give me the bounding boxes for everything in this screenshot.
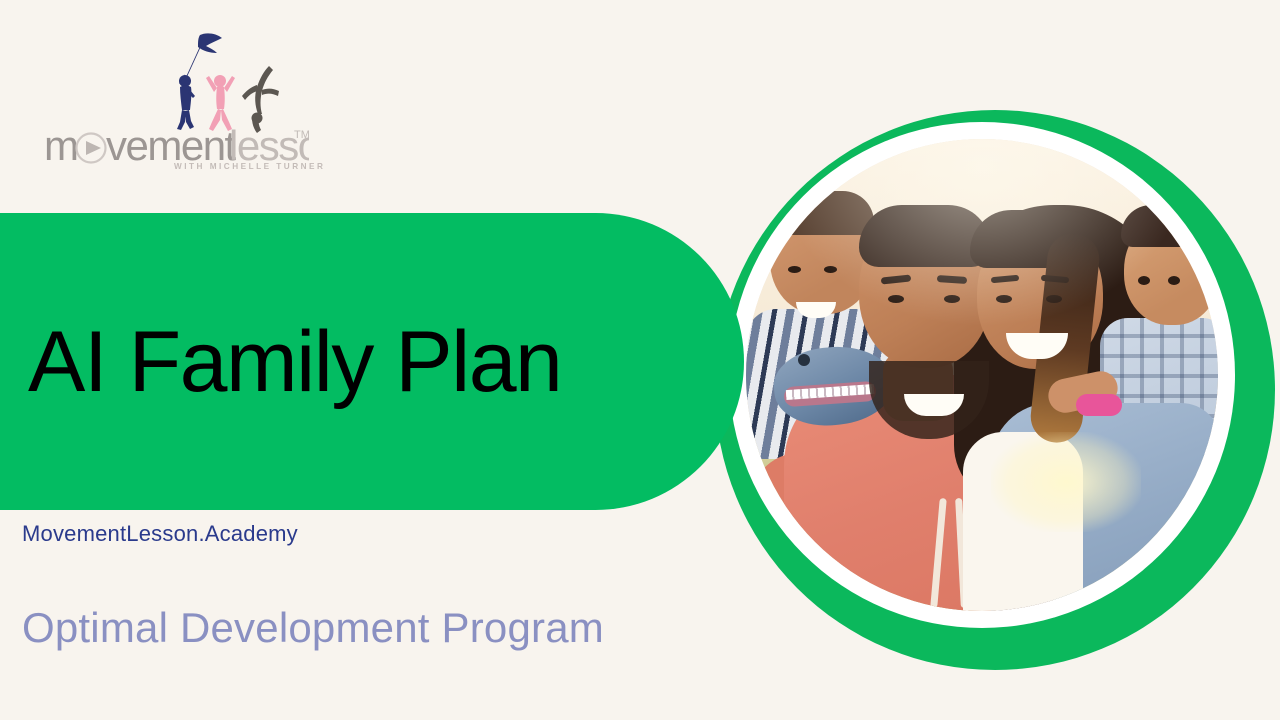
slide-canvas: AI Family Plan [0, 0, 1280, 720]
program-subtitle: Optimal Development Program [22, 604, 604, 652]
play-button-o-icon [77, 134, 106, 163]
kite-icon [186, 33, 222, 78]
family-photo-circle [715, 110, 1275, 670]
brand-logo[interactable]: m vement lesson TM WITH MICHELLE TURNER [44, 28, 314, 178]
photo-highlight-glow [746, 139, 1218, 611]
child-with-kite-figure [177, 74, 195, 130]
wordmark-movement-prefix: m [44, 124, 78, 169]
family-photo-image [746, 139, 1218, 611]
hero-green-pill: AI Family Plan [0, 213, 744, 510]
child-arms-up-figure [206, 75, 235, 131]
wordmark-trademark: TM [294, 129, 309, 141]
logo-tagline: WITH MICHELLE TURNER [174, 162, 325, 171]
site-url-text[interactable]: MovementLesson.Academy [22, 521, 298, 547]
page-title: AI Family Plan [28, 319, 561, 405]
child-cartwheel-figure [242, 66, 279, 133]
